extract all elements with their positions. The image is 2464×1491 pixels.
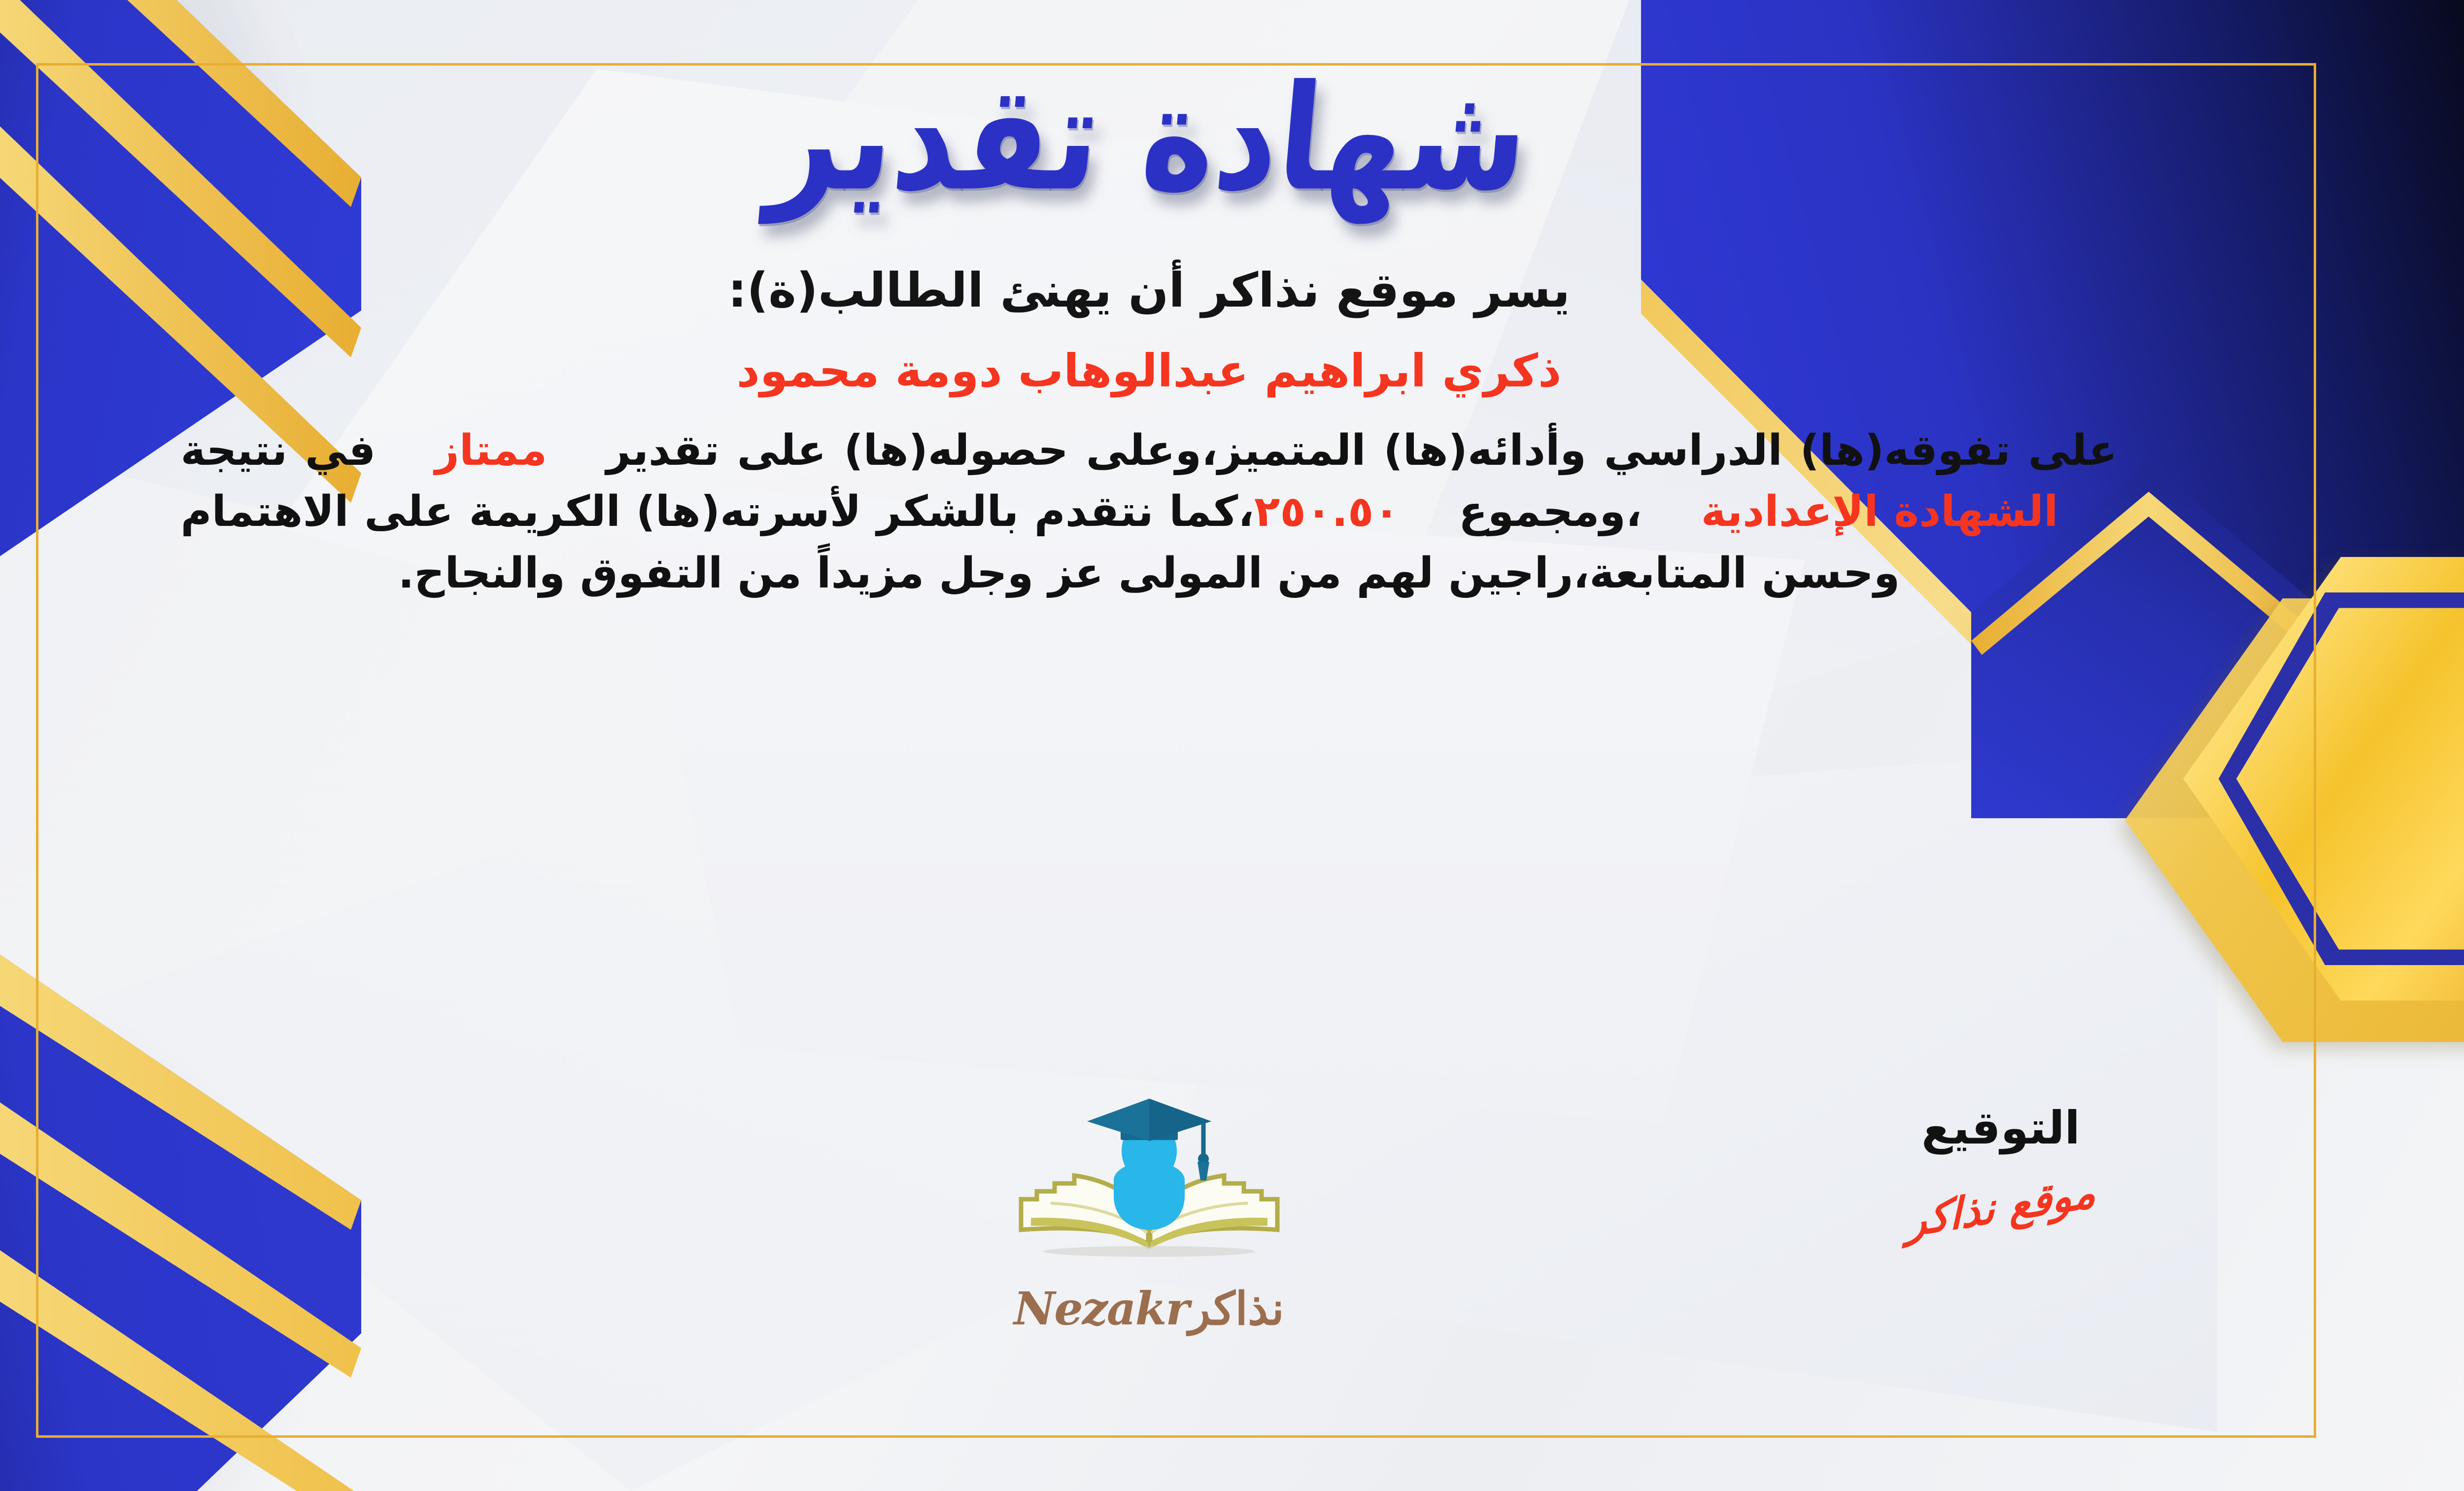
signature-label: التوقيع bbox=[1814, 1102, 2188, 1154]
signature-script: موقع نذاكر bbox=[1906, 1167, 2096, 1247]
page-title: شهادة تقدير bbox=[764, 62, 1534, 215]
body-part-1: على تفوقه(ها) الدراسي وأدائه(ها) المتميز… bbox=[606, 426, 2117, 475]
logo-wordmark: نذاكرNezakr bbox=[927, 1282, 1371, 1335]
body-part-3: ،ومجموع bbox=[1459, 487, 1642, 536]
certificate-content: شهادة تقدير يسر موقع نذاكر أن يهنئ الطال… bbox=[0, 0, 2464, 1491]
logo-name-ar: نذاكر bbox=[1189, 1282, 1284, 1335]
site-logo: نذاكرNezakr bbox=[927, 1082, 1371, 1335]
grade-value: ممتاز bbox=[435, 426, 547, 475]
signature-block: التوقيع موقع نذاكر bbox=[1814, 1102, 2188, 1232]
congratulation-line: يسر موقع نذاكر أن يهنئ الطالب(ة): bbox=[728, 263, 1570, 318]
student-name: ذكري ابراهيم عبدالوهاب دومة محمود bbox=[737, 345, 1562, 397]
exam-name: الشهادة الإعدادية bbox=[1701, 487, 2058, 536]
body-paragraph: على تفوقه(ها) الدراسي وأدائه(ها) المتميز… bbox=[181, 420, 2118, 604]
certificate-page: شهادة تقدير يسر موقع نذاكر أن يهنئ الطال… bbox=[0, 0, 2464, 1491]
total-score: ٢٥٠.٥٠ bbox=[1254, 487, 1400, 536]
logo-name-en: Nezakr bbox=[1014, 1282, 1189, 1335]
body-part-2: في نتيجة bbox=[181, 426, 376, 475]
graduate-open-book-icon bbox=[992, 1082, 1307, 1279]
certificate-body: على تفوقه(ها) الدراسي وأدائه(ها) المتميز… bbox=[18, 420, 2280, 604]
certificate-footer: التوقيع موقع نذاكر bbox=[0, 1102, 2464, 1407]
